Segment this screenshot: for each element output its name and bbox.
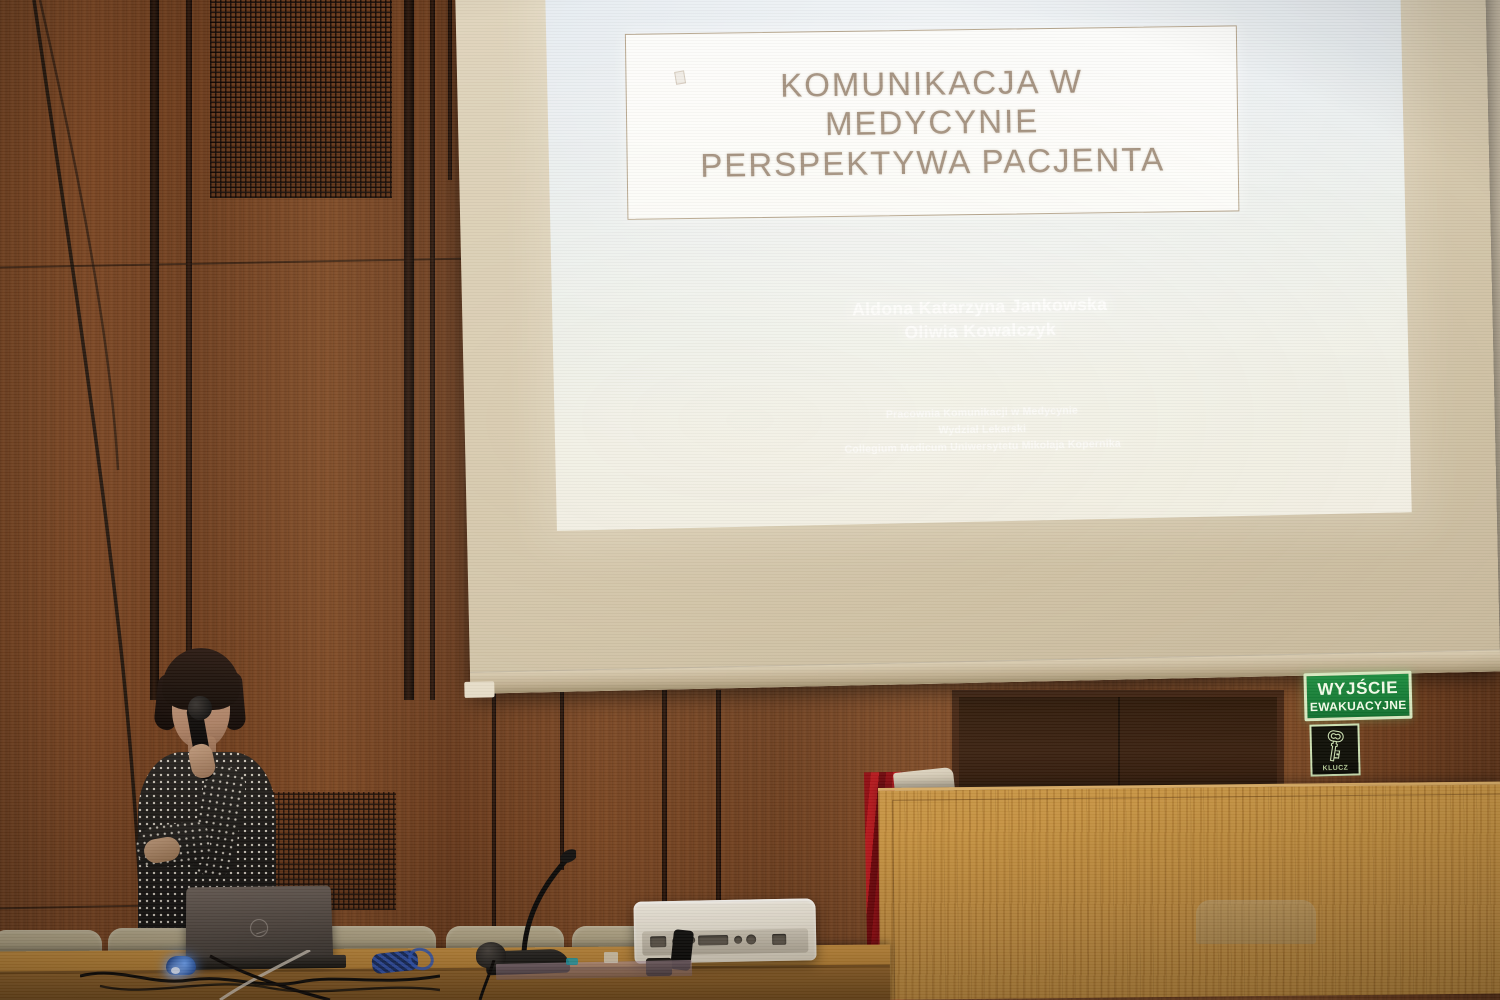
laptop-logo-icon: [250, 918, 268, 936]
wooden-podium-partition: [878, 781, 1500, 1000]
slide-affiliation: Pracownia Komunikacji w Medycynie Wydzia…: [554, 395, 1410, 465]
video-projector: [633, 898, 816, 963]
exit-sign-line-1: WYJŚCIE: [1317, 679, 1398, 698]
wall-batten: [404, 0, 414, 700]
projector-port-panel: [642, 928, 808, 955]
chair[interactable]: [1196, 900, 1316, 944]
wall-batten: [448, 0, 452, 180]
lecture-hall-photo: KOMUNIKACJA W MEDYCYNIE PERSPEKTYWA PACJ…: [0, 0, 1500, 1000]
screen-pull-tab[interactable]: [464, 681, 494, 698]
projected-slide-area: KOMUNIKACJA W MEDYCYNIE PERSPEKTYWA PACJ…: [545, 0, 1412, 531]
small-object-on-table: [604, 952, 618, 963]
podium-panel-edge: [892, 793, 1500, 999]
exit-sign-line-2: EWAKUACYJNE: [1310, 699, 1407, 713]
gooseneck-microphone: [506, 848, 576, 952]
projector-port: [746, 934, 756, 944]
slide-authors: Aldona Katarzyna Jankowska Oliwia Kowalc…: [552, 285, 1408, 352]
emergency-exit-sign: WYJŚCIE EWAKUACYJNE: [1303, 671, 1412, 722]
mouse-cursor-artifact: [674, 70, 686, 84]
key-sign-label: KLUCZ: [1312, 762, 1358, 774]
hanging-cable-vertical: [492, 690, 496, 940]
projector-port-lan: [772, 934, 786, 945]
wall-batten: [430, 0, 435, 700]
projection-screen: KOMUNIKACJA W MEDYCYNIE PERSPEKTYWA PACJ…: [455, 0, 1500, 694]
slide-title: KOMUNIKACJA W MEDYCYNIE PERSPEKTYWA PACJ…: [699, 60, 1165, 185]
hanging-cable-vertical: [662, 690, 667, 920]
slide: KOMUNIKACJA W MEDYCYNIE PERSPEKTYWA PACJ…: [545, 0, 1412, 531]
hanging-cable-vertical: [560, 690, 564, 870]
projector-port-vga: [698, 935, 728, 946]
slide-title-box: KOMUNIKACJA W MEDYCYNIE PERSPEKTYWA PACJ…: [625, 25, 1240, 220]
hanging-cable-vertical: [716, 690, 721, 900]
laptop-power-cable: [190, 950, 450, 1000]
projector-port: [734, 936, 742, 944]
projector-port: [650, 936, 666, 947]
microphone-cable: [470, 960, 590, 1000]
key-location-sign: 🗝 KLUCZ: [1309, 723, 1360, 776]
